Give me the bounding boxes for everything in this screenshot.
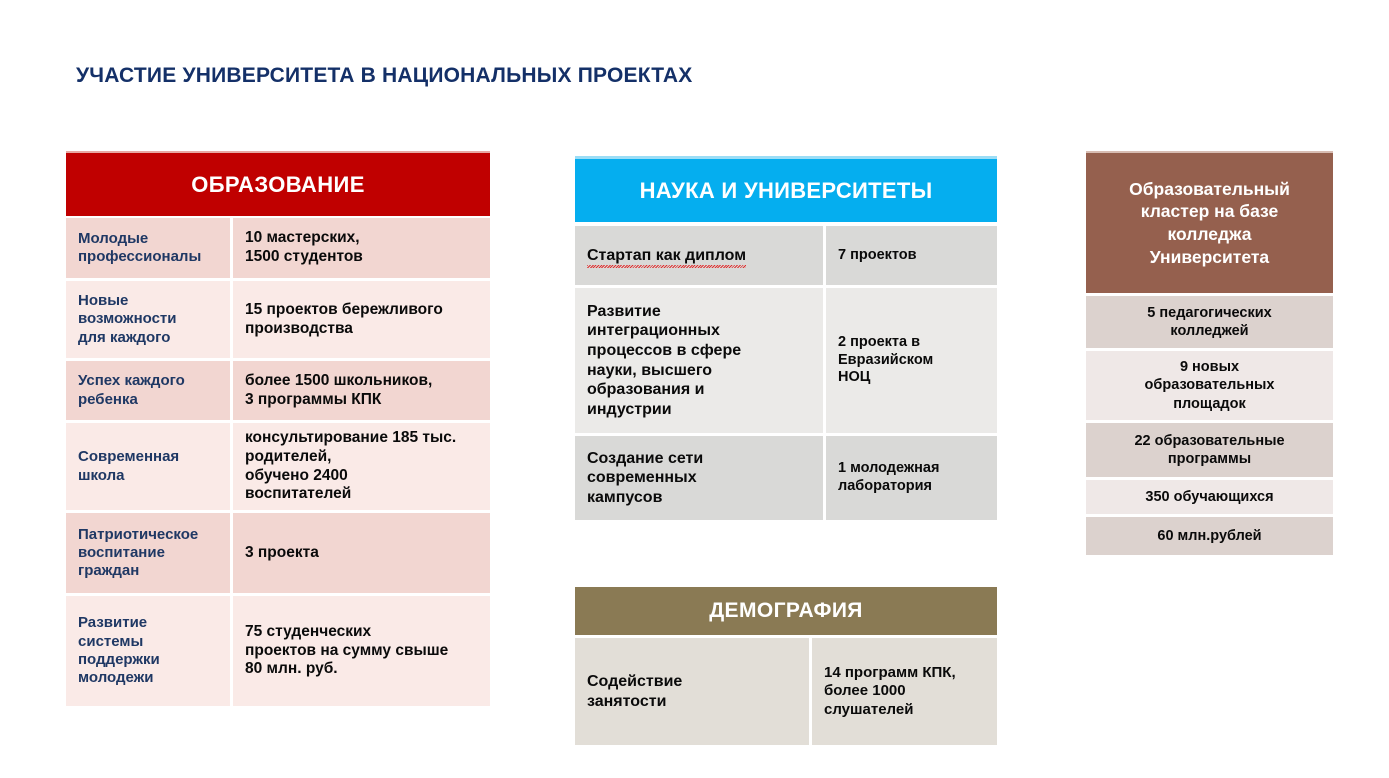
row-label: Новые возможности для каждого xyxy=(66,281,233,358)
row-label: Создание сети современных кампусов xyxy=(575,436,826,520)
table-row: Стартап как диплом 7 проектов xyxy=(575,226,997,288)
table-row: Патриотическое воспитание граждан 3 прое… xyxy=(66,513,490,596)
row-value: 1 молодежная лаборатория xyxy=(826,436,997,520)
row-value: более 1500 школьников, 3 программы КПК xyxy=(233,361,490,420)
row-value: 7 проектов xyxy=(826,226,997,285)
table-row: Развитие системы поддержки молодежи 75 с… xyxy=(66,596,490,706)
row-label: Развитие системы поддержки молодежи xyxy=(66,596,233,706)
row-value: 350 обучающихся xyxy=(1086,480,1333,514)
row-label: Успех каждого ребенка xyxy=(66,361,233,420)
row-label: Современная школа xyxy=(66,423,233,510)
row-value: 9 новых образовательных площадок xyxy=(1086,351,1333,420)
table-row: Современная школа консультирование 185 т… xyxy=(66,423,490,513)
table-row: Молодые профессионалы 10 мастерских, 150… xyxy=(66,218,490,281)
table-row: Новые возможности для каждого 15 проекто… xyxy=(66,281,490,361)
row-value: 3 проекта xyxy=(233,513,490,593)
row-value: 15 проектов бережливого производства xyxy=(233,281,490,358)
list-item: 9 новых образовательных площадок xyxy=(1086,351,1333,423)
row-value: консультирование 185 тыс. родителей, обу… xyxy=(233,423,490,510)
page-title: УЧАСТИЕ УНИВЕРСИТЕТА В НАЦИОНАЛЬНЫХ ПРОЕ… xyxy=(76,64,693,88)
panel-cluster-header: Образовательный кластер на базе колледжа… xyxy=(1086,151,1333,293)
panel-demography: ДЕМОГРАФИЯ Содействие занятости 14 прогр… xyxy=(575,587,997,745)
list-item: 5 педагогических колледжей xyxy=(1086,296,1333,351)
panel-education-body: Молодые профессионалы 10 мастерских, 150… xyxy=(66,218,490,706)
row-value: 5 педагогических колледжей xyxy=(1086,296,1333,348)
row-value: 22 образовательные программы xyxy=(1086,423,1333,477)
table-row: Развитие интеграционных процессов в сфер… xyxy=(575,288,997,436)
panel-education: ОБРАЗОВАНИЕ Молодые профессионалы 10 мас… xyxy=(66,151,490,706)
row-label: Молодые профессионалы xyxy=(66,218,233,278)
row-value: 75 студенческих проектов на сумму свыше … xyxy=(233,596,490,706)
row-label: Стартап как диплом xyxy=(575,226,826,285)
row-label: Содействие занятости xyxy=(575,638,812,745)
panel-demography-header: ДЕМОГРАФИЯ xyxy=(575,587,997,635)
panel-science: НАУКА И УНИВЕРСИТЕТЫ Стартап как диплом … xyxy=(575,156,997,520)
table-row: Создание сети современных кампусов 1 мол… xyxy=(575,436,997,520)
table-row: Успех каждого ребенка более 1500 школьни… xyxy=(66,361,490,423)
row-value: 14 программ КПК, более 1000 слушателей xyxy=(812,638,997,745)
list-item: 350 обучающихся xyxy=(1086,480,1333,517)
panel-cluster-body: 5 педагогических колледжей 9 новых образ… xyxy=(1086,296,1333,555)
row-value: 10 мастерских, 1500 студентов xyxy=(233,218,490,278)
row-label: Развитие интеграционных процессов в сфер… xyxy=(575,288,826,433)
row-value: 2 проекта в Евразийском НОЦ xyxy=(826,288,997,433)
list-item: 22 образовательные программы xyxy=(1086,423,1333,480)
panel-education-header: ОБРАЗОВАНИЕ xyxy=(66,151,490,216)
list-item: 60 млн.рублей xyxy=(1086,517,1333,555)
panel-demography-body: Содействие занятости 14 программ КПК, бо… xyxy=(575,638,997,745)
row-label: Патриотическое воспитание граждан xyxy=(66,513,233,593)
panel-cluster: Образовательный кластер на базе колледжа… xyxy=(1086,151,1333,555)
panel-science-header: НАУКА И УНИВЕРСИТЕТЫ xyxy=(575,156,997,222)
table-row: Содействие занятости 14 программ КПК, бо… xyxy=(575,638,997,745)
panel-science-body: Стартап как диплом 7 проектов Развитие и… xyxy=(575,226,997,520)
row-value: 60 млн.рублей xyxy=(1086,517,1333,555)
misspelled-text: Стартап как диплом xyxy=(587,246,746,266)
